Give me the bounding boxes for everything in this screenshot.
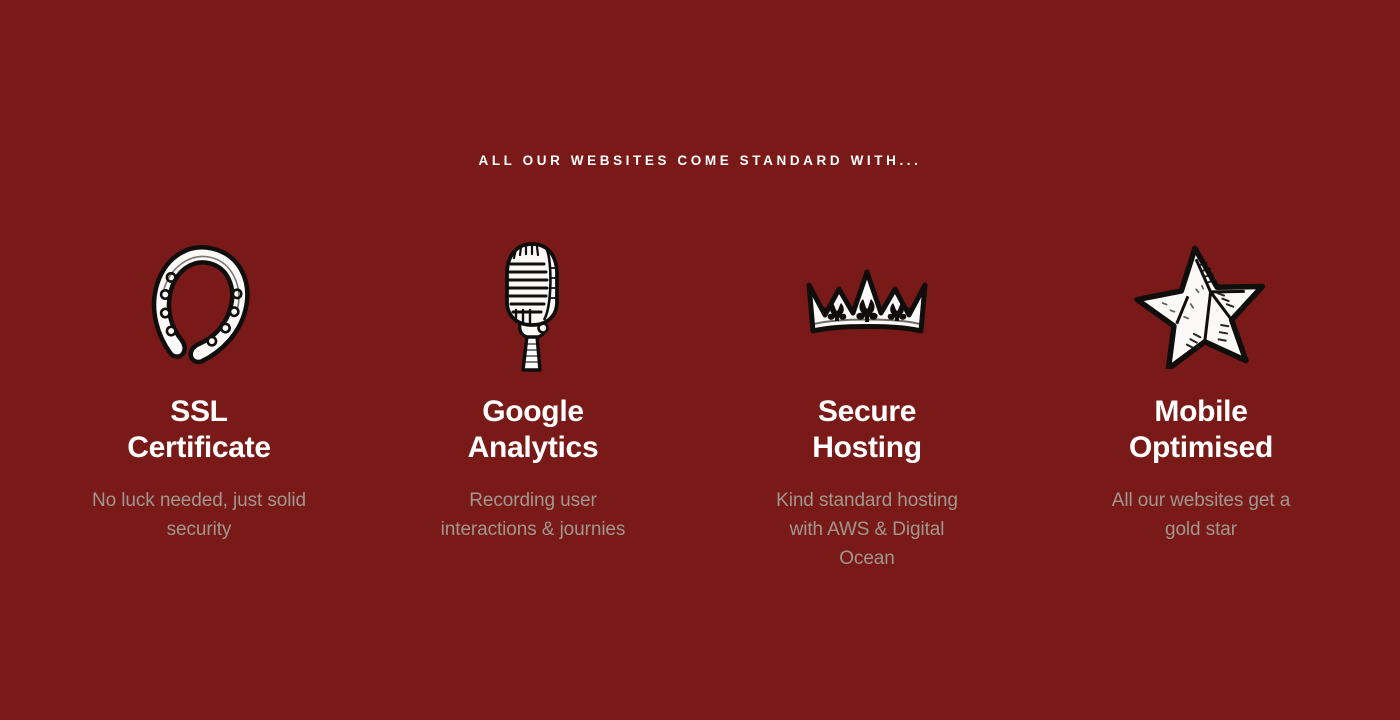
feature-card-title-line1: Mobile — [1154, 395, 1247, 428]
feature-card-title: SSL Certificate — [127, 394, 270, 466]
feature-card-title: Secure Hosting — [812, 394, 922, 466]
feature-card-title-line1: SSL — [170, 395, 227, 428]
feature-card-description: Kind standard hosting with AWS & Digital… — [760, 486, 975, 573]
features-section: All our websites come standard with... — [0, 0, 1400, 720]
feature-card-description: Recording user interactions & journies — [426, 486, 641, 544]
microphone-icon — [443, 240, 623, 372]
feature-card-description: No luck needed, just solid security — [92, 486, 307, 544]
feature-card-title-line1: Google — [482, 395, 584, 428]
feature-card-title-line1: Secure — [818, 395, 916, 428]
feature-card-title-line2: Certificate — [127, 431, 270, 464]
feature-card: Google Analytics Recording user interact… — [366, 240, 700, 544]
feature-card: Mobile Optimised All our websites get a … — [1034, 240, 1368, 544]
feature-card-title-line2: Hosting — [812, 431, 922, 464]
crown-icon — [777, 240, 957, 372]
horseshoe-icon — [109, 240, 289, 372]
feature-card-title: Mobile Optimised — [1129, 394, 1273, 466]
feature-card: SSL Certificate No luck needed, just sol… — [32, 240, 366, 544]
feature-card-description: All our websites get a gold star — [1094, 486, 1309, 544]
feature-card-title: Google Analytics — [468, 394, 599, 466]
feature-card-list: SSL Certificate No luck needed, just sol… — [32, 240, 1368, 573]
feature-card-title-line2: Analytics — [468, 431, 599, 464]
feature-card-title-line2: Optimised — [1129, 431, 1273, 464]
feature-card: Secure Hosting Kind standard hosting wit… — [700, 240, 1034, 573]
star-icon — [1111, 240, 1291, 372]
section-eyebrow: All our websites come standard with... — [478, 152, 921, 170]
